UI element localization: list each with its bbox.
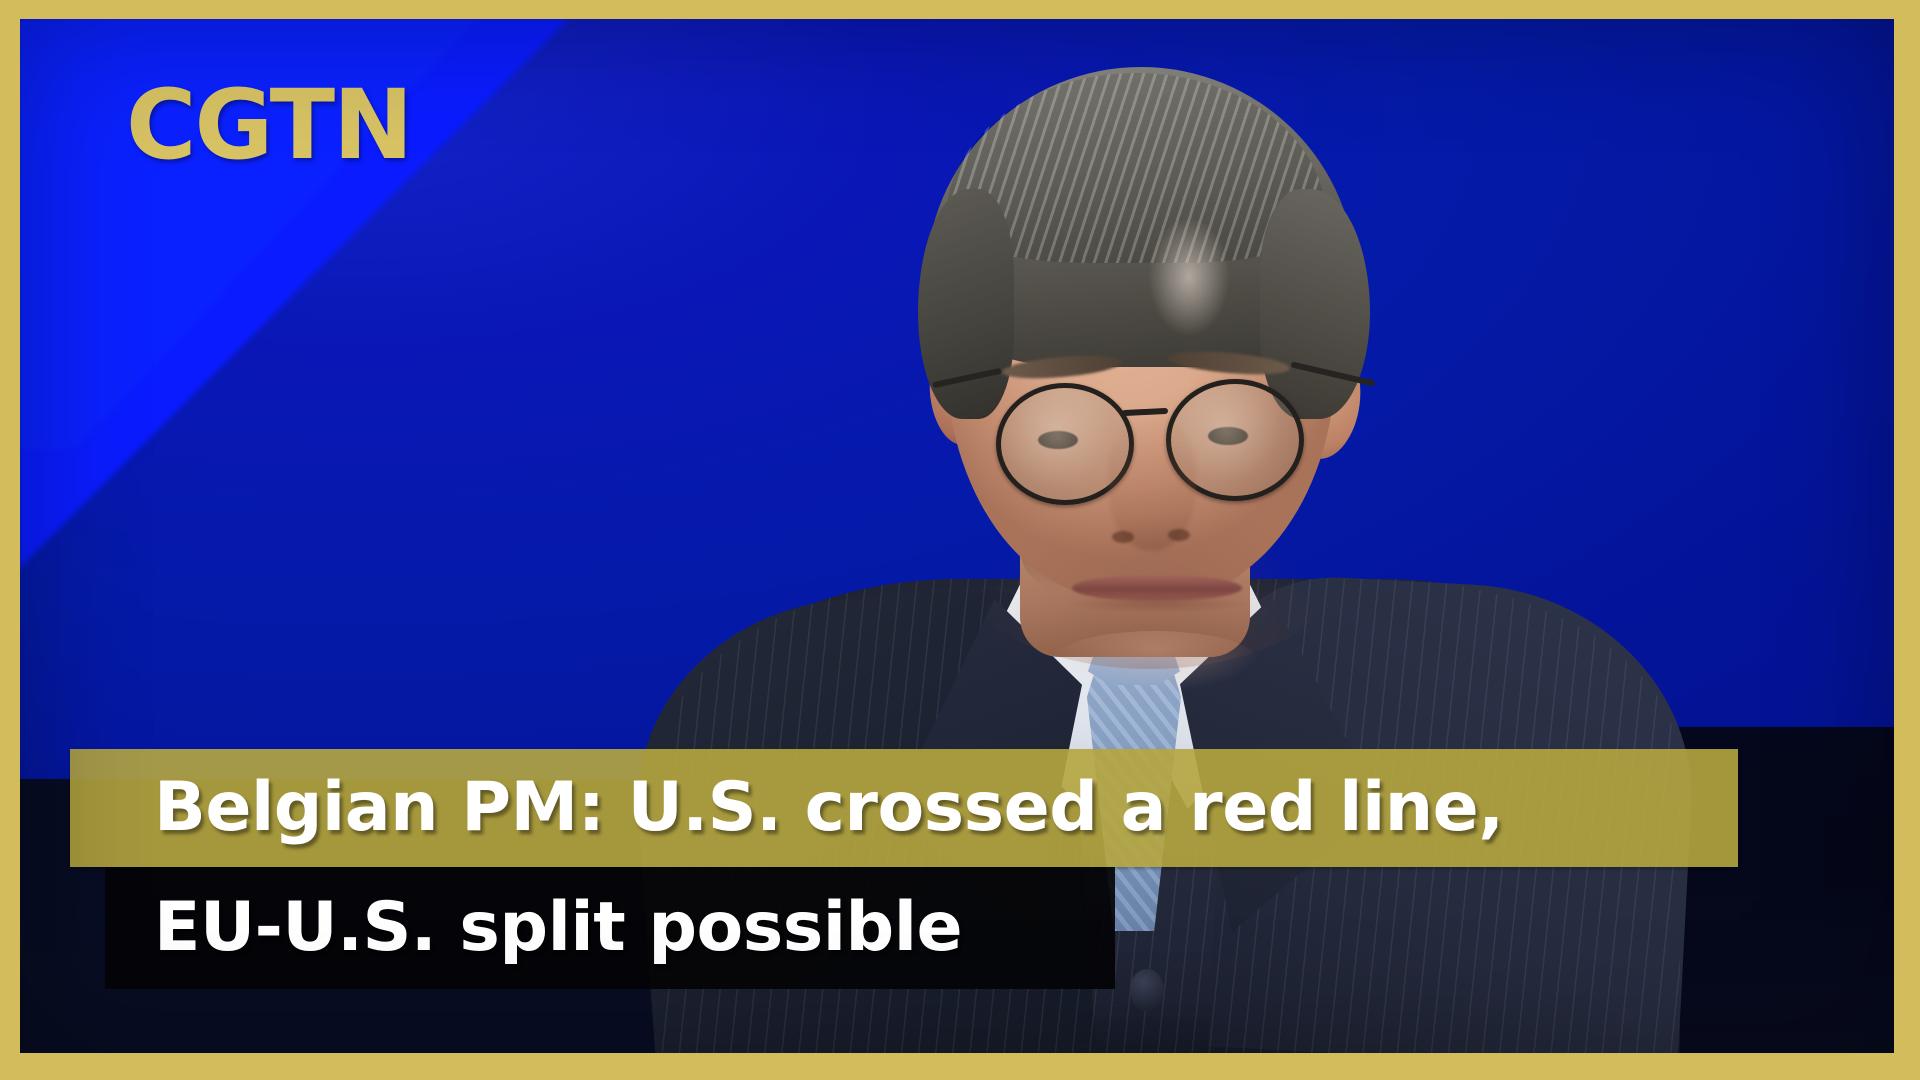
headline-text-line1: Belgian PM: U.S. crossed a red line, <box>154 774 1504 842</box>
suit-button <box>1130 969 1164 1011</box>
headline-text-line2: EU-U.S. split possible <box>154 894 962 962</box>
chin-highlight <box>1052 631 1258 691</box>
nostril-left <box>1112 531 1134 543</box>
nostril-right <box>1168 529 1190 541</box>
forehead-highlight <box>1148 217 1230 337</box>
cgtn-logo: CGTN <box>126 77 411 173</box>
broadcast-frame: CGTN <box>0 0 1920 1080</box>
video-viewport: CGTN <box>20 19 1894 1053</box>
headline-bar-line1: Belgian PM: U.S. crossed a red line, <box>70 749 1738 867</box>
hair-side-right <box>1260 189 1370 419</box>
headline-bar-line2: EU-U.S. split possible <box>105 867 1115 989</box>
lip-shadow <box>1064 595 1252 613</box>
